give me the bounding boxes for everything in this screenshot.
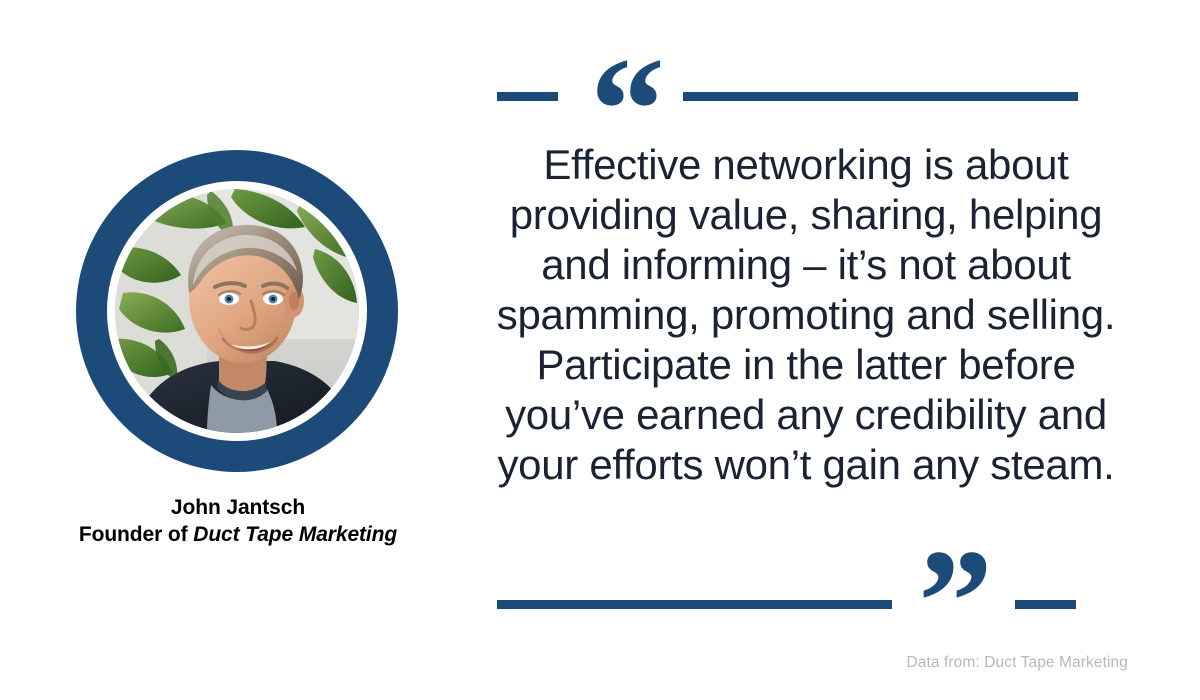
source-note: Data from: Duct Tape Marketing: [906, 654, 1128, 672]
quote-card: John Jantsch Founder of Duct Tape Market…: [0, 0, 1200, 700]
role-prefix: Founder of: [79, 523, 193, 546]
portrait-panel: John Jantsch Founder of Duct Tape Market…: [0, 0, 476, 700]
quote-panel: “ Effective networking is about providin…: [476, 0, 1200, 700]
author-role: Founder of Duct Tape Marketing: [0, 522, 476, 549]
attribution: John Jantsch Founder of Duct Tape Market…: [0, 495, 476, 549]
rule-long-top: [683, 92, 1078, 101]
portrait-photo: [115, 189, 359, 433]
quote-text: Effective networking is about providing …: [486, 140, 1126, 490]
quote-decoration-top: “: [497, 62, 1116, 130]
company-name: Duct Tape Marketing: [193, 523, 397, 546]
author-name: John Jantsch: [171, 496, 305, 519]
rule-long-bottom: [497, 600, 892, 609]
rule-short-top: [497, 92, 558, 101]
quote-decoration-bottom: ”: [497, 570, 1116, 638]
avatar: [76, 150, 398, 472]
rule-short-bottom: [1015, 600, 1076, 609]
